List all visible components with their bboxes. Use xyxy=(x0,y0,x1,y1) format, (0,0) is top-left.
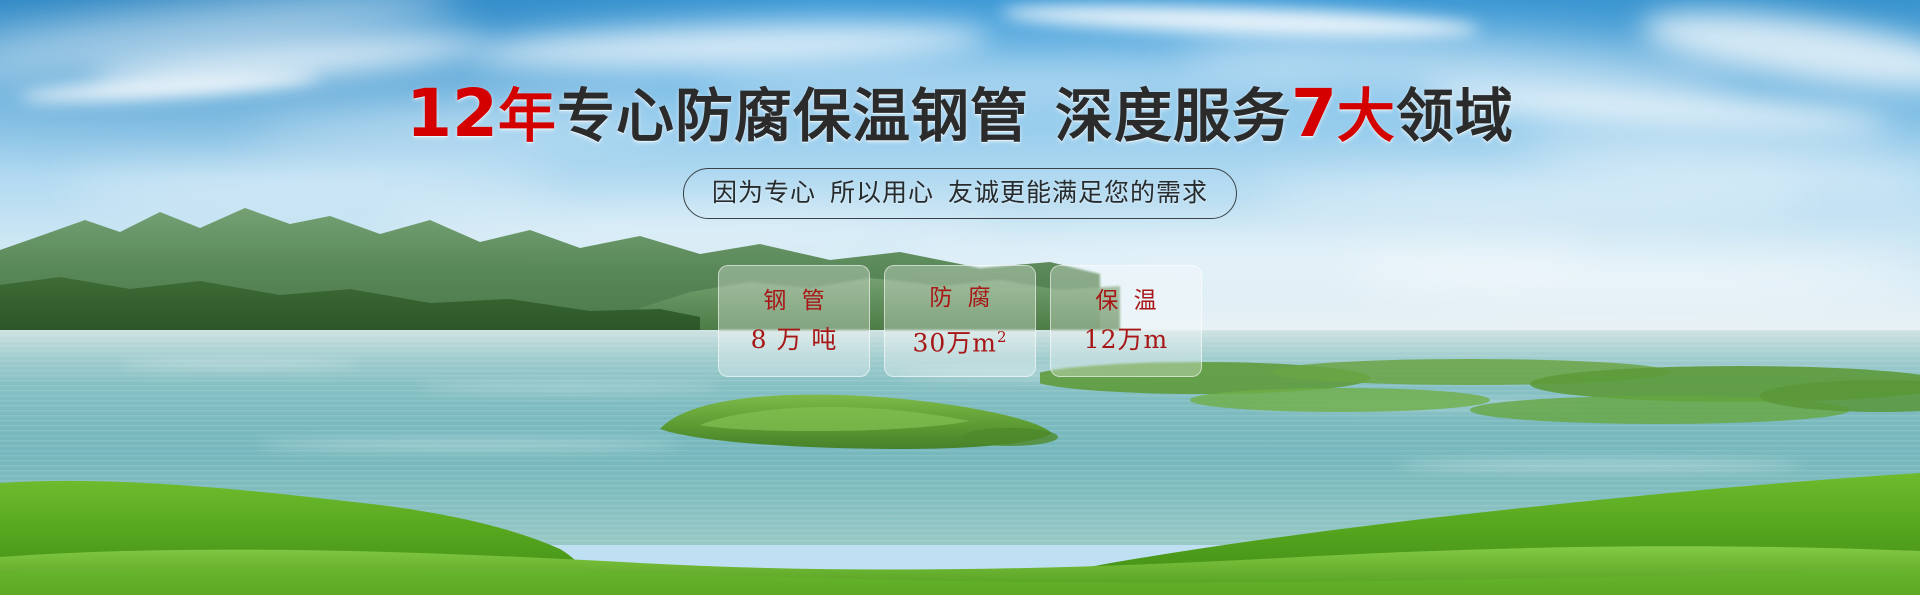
stat-card-gangguan[interactable]: 钢 管 8 万 吨 xyxy=(718,265,870,377)
headline-tail-da: 大 xyxy=(1337,82,1396,150)
page-title: 12年专心防腐保温钢管深度服务7大领域 xyxy=(0,82,1920,148)
hero-banner: 12年专心防腐保温钢管深度服务7大领域 因为专心所以用心友诚更能满足您的需求 钢… xyxy=(0,0,1920,595)
headline-tail-text: 领域 xyxy=(1396,82,1514,150)
subtitle-part-2: 所以用心 xyxy=(830,178,934,207)
headline-lead-number: 12 xyxy=(406,75,498,152)
stat-card-label: 保 温 xyxy=(1091,288,1160,314)
headline-main-text: 专心防腐保温钢管 xyxy=(557,82,1029,150)
water-glint xyxy=(260,440,680,450)
water-glint xyxy=(120,360,360,368)
subtitle-pill: 因为专心所以用心友诚更能满足您的需求 xyxy=(683,168,1237,219)
headline-second-text: 深度服务 xyxy=(1055,82,1291,150)
stat-card-value-text: 30万m xyxy=(912,328,997,357)
stat-card-fangfu[interactable]: 防 腐 30万m2 xyxy=(884,265,1036,377)
headline-second-number: 7 xyxy=(1291,75,1337,152)
subtitle-part-3: 友诚更能满足您的需求 xyxy=(948,178,1208,207)
stat-card-value-text: 8 万 吨 xyxy=(751,325,838,354)
subtitle-part-1: 因为专心 xyxy=(712,178,816,207)
headline-lead-unit: 年 xyxy=(498,82,557,150)
water-glint xyxy=(1400,460,1800,471)
stat-card-value-superscript: 2 xyxy=(997,328,1008,346)
stat-card-group: 钢 管 8 万 吨 防 腐 30万m2 保 温 12万m xyxy=(718,265,1202,377)
stat-card-baowen[interactable]: 保 温 12万m xyxy=(1050,265,1202,377)
stat-card-value: 12万m xyxy=(1084,326,1169,354)
water-glint xyxy=(1250,400,1590,409)
water-glint xyxy=(420,384,720,391)
stat-card-value: 30万m2 xyxy=(912,323,1007,357)
stat-card-value-text: 12万m xyxy=(1084,325,1169,354)
stat-card-label: 钢 管 xyxy=(759,288,828,314)
stat-card-value: 8 万 吨 xyxy=(751,326,838,354)
stat-card-label: 防 腐 xyxy=(925,285,994,311)
